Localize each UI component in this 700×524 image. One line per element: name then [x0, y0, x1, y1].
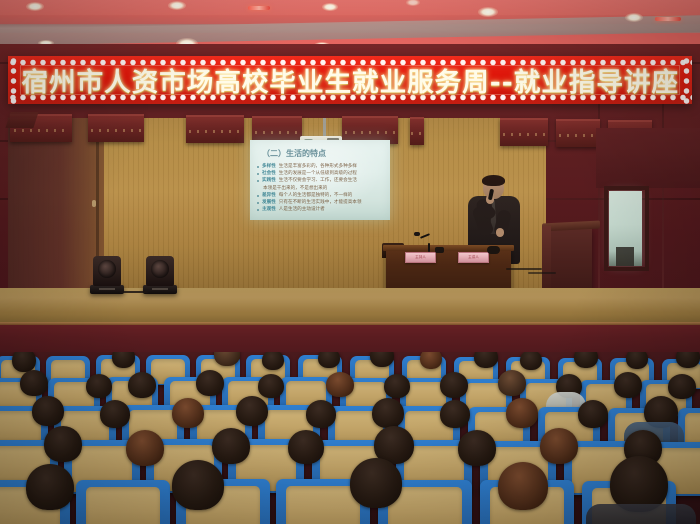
slide-title: （二）生活的特点 — [262, 148, 326, 159]
audience-head — [212, 428, 250, 464]
audience-head — [626, 352, 648, 369]
slide-bullet-value: 每个人的生活都是独特的，不一样的 — [279, 193, 353, 199]
audience-head — [86, 374, 112, 398]
speaker-hand — [496, 228, 504, 237]
banner-text: 宿州市人资市场高校毕业生就业服务周--就业指导讲座 — [21, 62, 678, 99]
list-item: 本领是干出来的，不是想出来的 — [257, 186, 385, 192]
slide-bullet-key: 实践性 — [262, 178, 276, 184]
microphone-head-icon — [414, 232, 420, 236]
moving-head-light — [90, 248, 124, 294]
audience-head — [350, 458, 402, 508]
bullet-icon — [257, 166, 259, 168]
audience-head — [318, 352, 340, 368]
moving-head-light — [143, 248, 177, 294]
audience-head — [196, 370, 224, 396]
audience-head — [440, 400, 470, 428]
stage-light-housing — [556, 119, 600, 147]
seat-cushion — [286, 486, 359, 524]
projection-screen: （二）生活的特点 多样性 生活是丰富多彩的，各种形式多种多样 社会性 生活的发展… — [250, 140, 390, 220]
audience-head — [474, 352, 498, 368]
audience-head — [44, 426, 82, 462]
door-handle — [92, 200, 96, 207]
ceiling-downlight — [168, 1, 186, 10]
nameplate: 主持人 — [405, 252, 436, 263]
wall-panel — [596, 128, 700, 188]
list-item: 实践性 生活不仅要会学习、工作，还要会生活 — [257, 178, 385, 184]
list-item: 多样性 生活是丰富多彩的，各种形式多种多样 — [257, 164, 385, 170]
audience-head — [458, 430, 496, 466]
audience-seating-area — [0, 352, 700, 524]
desk-cable — [528, 272, 556, 274]
slide-bullet-value: 只有在不断的生活实践中，才能提高本领 — [279, 200, 362, 206]
nameplate: 主讲人 — [458, 252, 489, 263]
stage-light-housing — [186, 115, 244, 143]
audience-head — [574, 352, 598, 368]
audience-head — [614, 372, 642, 398]
list-item: 主观性 人是生活的主动设计者 — [257, 207, 385, 213]
banner-inner-frame: 宿州市人资市场高校毕业生就业服务周--就业指导讲座 — [20, 65, 680, 95]
slide-bullet-key: 多样性 — [262, 164, 276, 170]
ceiling-downlight — [625, 13, 643, 22]
desk-object — [435, 247, 444, 253]
slide-bullet-list: 多样性 生活是丰富多彩的，各种形式多种多样 社会性 生活的发展是一个从低级到高级… — [257, 164, 385, 214]
list-item: 社会性 生活的发展是一个从低级到高级的过程 — [257, 171, 385, 177]
bullet-icon — [257, 173, 259, 175]
audience-head — [668, 374, 696, 399]
audience-head — [126, 430, 164, 466]
ceiling-downlight — [26, 2, 44, 11]
audience-head — [440, 372, 468, 398]
stage-light-housing — [5, 112, 38, 128]
list-item: 差异性 每个人的生活都是独特的，不一样的 — [257, 193, 385, 199]
audience-head — [112, 352, 135, 368]
speaker-hair — [482, 175, 505, 186]
ceiling-light-strip — [248, 6, 270, 10]
stage-light-housing — [500, 118, 548, 146]
banner-scallop-trim — [10, 56, 17, 104]
gooseneck-microphone-icon — [428, 243, 430, 252]
seat — [76, 480, 170, 524]
slide-bullet-value: 生活不仅要会学习、工作，还要会生活 — [279, 178, 357, 184]
slide-bullet-value: 生活是丰富多彩的，各种形式多种多样 — [279, 164, 357, 170]
audience-head — [12, 352, 36, 372]
audience-head — [20, 370, 48, 396]
audience-head — [26, 464, 74, 510]
stage-light-housing — [410, 117, 424, 145]
desk-cable — [506, 268, 542, 270]
light-base — [143, 285, 177, 294]
audience-head — [32, 396, 64, 426]
banner-scallop-trim — [683, 56, 690, 104]
projector-mount — [323, 118, 326, 138]
slide-bullet-key: 发展性 — [262, 200, 276, 206]
audience-head — [172, 460, 224, 510]
audience-head — [262, 352, 284, 370]
audience-head — [506, 398, 538, 428]
audience-head — [288, 430, 324, 464]
ceiling-light-strip — [655, 17, 681, 21]
desk-object — [487, 246, 500, 254]
light-cable — [120, 291, 148, 293]
bullet-icon — [257, 209, 259, 211]
lectern-side — [542, 226, 551, 294]
ceiling-downlight — [322, 3, 338, 11]
bullet-icon — [257, 195, 259, 197]
bullet-icon — [257, 202, 259, 204]
audience-head — [520, 352, 542, 370]
stage-edge-trim — [0, 322, 700, 325]
audience-head — [540, 428, 578, 464]
audience-head — [578, 400, 608, 428]
audience-head — [384, 374, 410, 398]
slide-bullet-value: 生活的发展是一个从低级到高级的过程 — [279, 171, 357, 177]
slide-bullet-value: 本领是干出来的，不是想出来的 — [263, 186, 327, 192]
ceiling-downlight — [406, 0, 420, 6]
audience-head — [306, 400, 336, 428]
ceiling-band — [0, 15, 700, 45]
event-banner: 宿州市人资市场高校毕业生就业服务周--就业指导讲座 — [8, 56, 692, 104]
light-lens-icon — [151, 260, 169, 278]
seat-cushion — [86, 487, 159, 524]
list-item: 发展性 只有在不断的生活实践中，才能提高本领 — [257, 200, 385, 206]
light-base — [90, 285, 124, 294]
audience-head — [128, 372, 156, 398]
audience-head — [100, 400, 130, 428]
audience-head — [172, 398, 204, 428]
audience-shoulder — [586, 504, 696, 524]
slide-bullet-key: 差异性 — [262, 193, 276, 199]
audience-head — [236, 396, 268, 426]
audience-head — [258, 374, 284, 398]
audience-head — [420, 352, 442, 369]
stage-light-housing — [88, 114, 144, 142]
ceiling-downlight — [478, 7, 498, 17]
nameplate-label: 主持人 — [406, 253, 435, 262]
auditorium-photo: 宿州市人资市场高校毕业生就业服务周--就业指导讲座 （二）生活的特点 多样性 生… — [0, 0, 700, 524]
slide-bullet-key: 主观性 — [262, 207, 276, 213]
audience-head — [498, 370, 526, 396]
doorway-shadow — [616, 247, 634, 266]
nameplate-label: 主讲人 — [459, 253, 488, 262]
audience-head — [326, 372, 354, 397]
audience-head — [498, 462, 548, 510]
slide-bullet-value: 人是生活的主动设计者 — [279, 207, 325, 213]
light-lens-icon — [98, 260, 116, 278]
audience-head — [372, 398, 404, 428]
audience-head — [676, 352, 700, 368]
slide-bullet-key: 社会性 — [262, 171, 276, 177]
bullet-icon — [257, 180, 259, 182]
